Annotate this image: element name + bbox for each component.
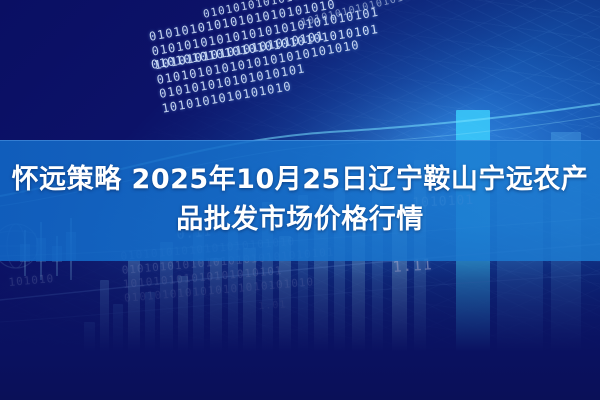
page-title-line-2: 品批发市场价格行情 [0,200,600,240]
banner-image: 01010101010101010101010 0101010101010101… [0,0,600,400]
page-title-line-1: 怀远策略 2025年10月25日辽宁鞍山宁远农产 [0,160,600,200]
band-top-edge [0,140,600,141]
page-title: 怀远策略 2025年10月25日辽宁鞍山宁远农产 品批发市场价格行情 [0,160,600,240]
